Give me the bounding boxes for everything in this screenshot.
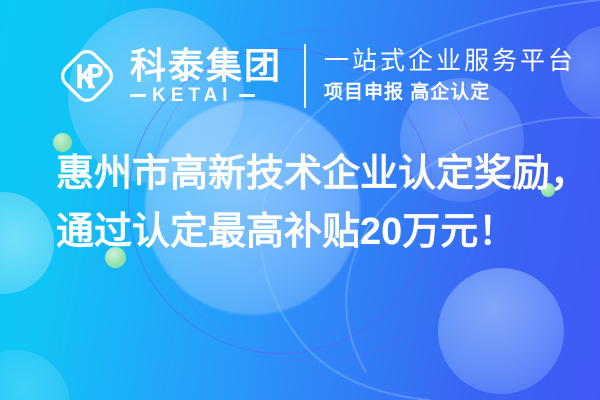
brand-name-en-row: KETAI [130,86,282,105]
promo-banner: 科泰集团 KETAI 一站式企业服务平台 项目申报 高企认定 惠州市高新技术企业… [0,0,600,400]
headline: 惠州市高新技术企业认定奖励， 通过认定最高补贴20万元！ [56,146,556,262]
tagline-main: 一站式企业服务平台 [324,46,576,77]
brand-name-cn: 科泰集团 [130,47,282,85]
headline-line-1: 惠州市高新技术企业认定奖励， [56,146,556,204]
dash-left-icon [130,94,146,97]
brand-name-en: KETAI [152,86,233,105]
tagline: 一站式企业服务平台 项目申报 高企认定 [324,46,576,105]
brand-text: 科泰集团 KETAI [130,47,282,106]
headline-line-2: 通过认定最高补贴20万元！ [56,204,556,262]
banner-header: 科泰集团 KETAI 一站式企业服务平台 项目申报 高企认定 [56,38,576,114]
ketai-diamond-kp-logo-icon [56,45,118,107]
header-divider [304,44,306,108]
tagline-sub: 项目申报 高企认定 [324,80,576,106]
dash-right-icon [239,94,255,97]
